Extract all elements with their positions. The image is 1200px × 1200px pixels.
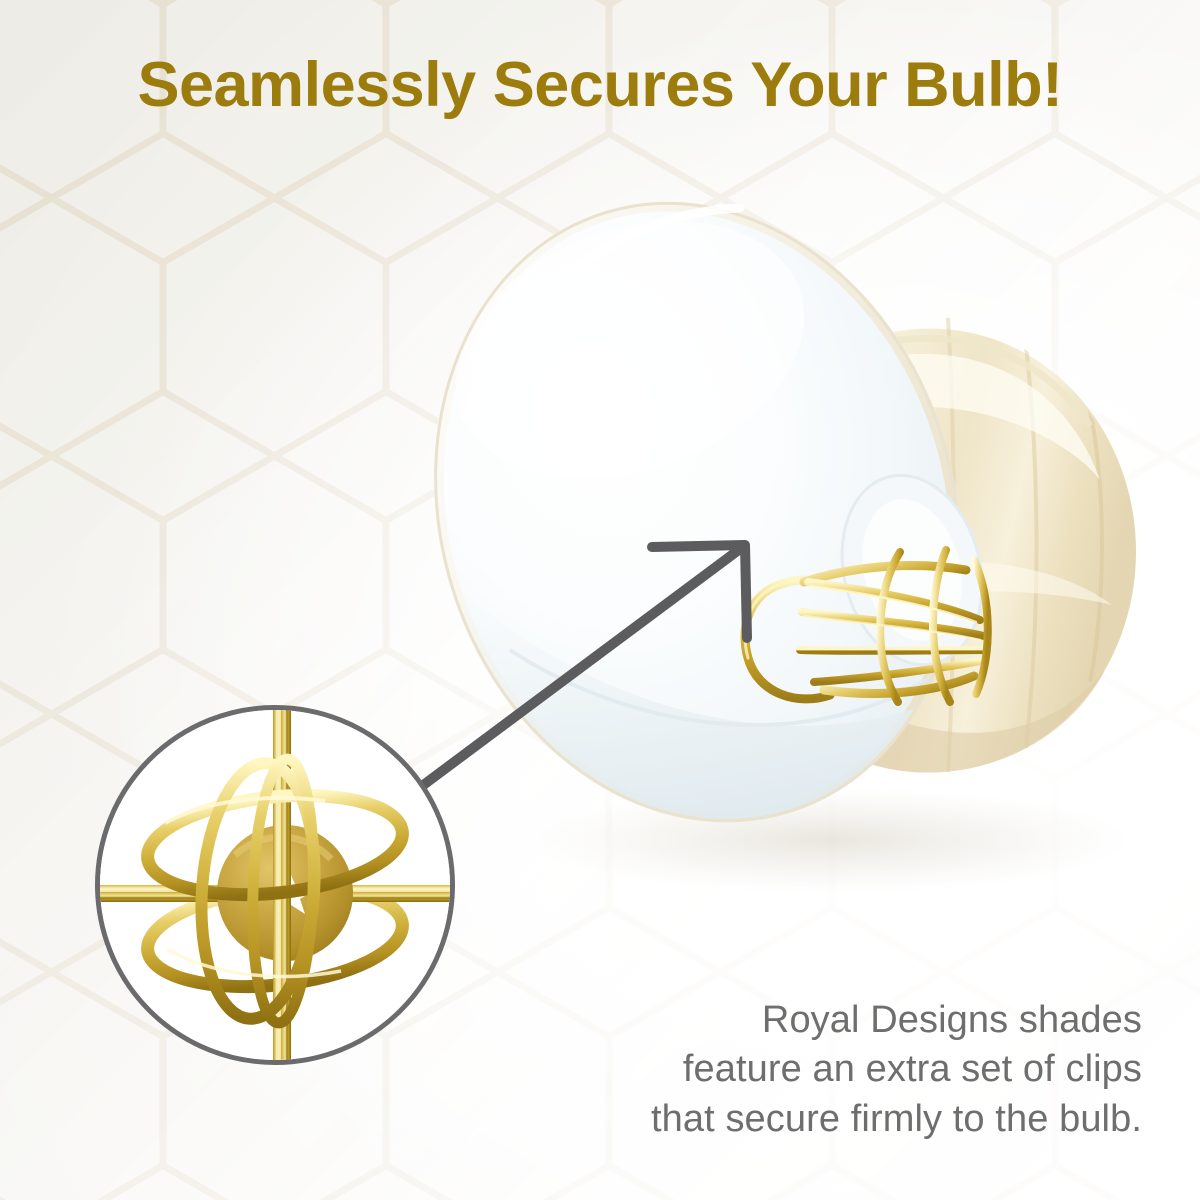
page-title: Seamlessly Secures Your Bulb!: [0, 52, 1200, 118]
bulb-clip-closeup-illustration: [95, 705, 455, 1065]
marketing-image-canvas: Seamlessly Secures Your Bulb!: [0, 0, 1200, 1200]
product-description-caption: Royal Designs shades feature an extra se…: [462, 996, 1142, 1144]
bulb-clip-closeup-inset: [95, 705, 455, 1065]
caption-line-3: that secure firmly to the bulb.: [462, 1095, 1142, 1144]
callout-arrow-icon: [400, 520, 780, 810]
caption-line-2: feature an extra set of clips: [462, 1045, 1142, 1094]
caption-line-1: Royal Designs shades: [462, 996, 1142, 1045]
